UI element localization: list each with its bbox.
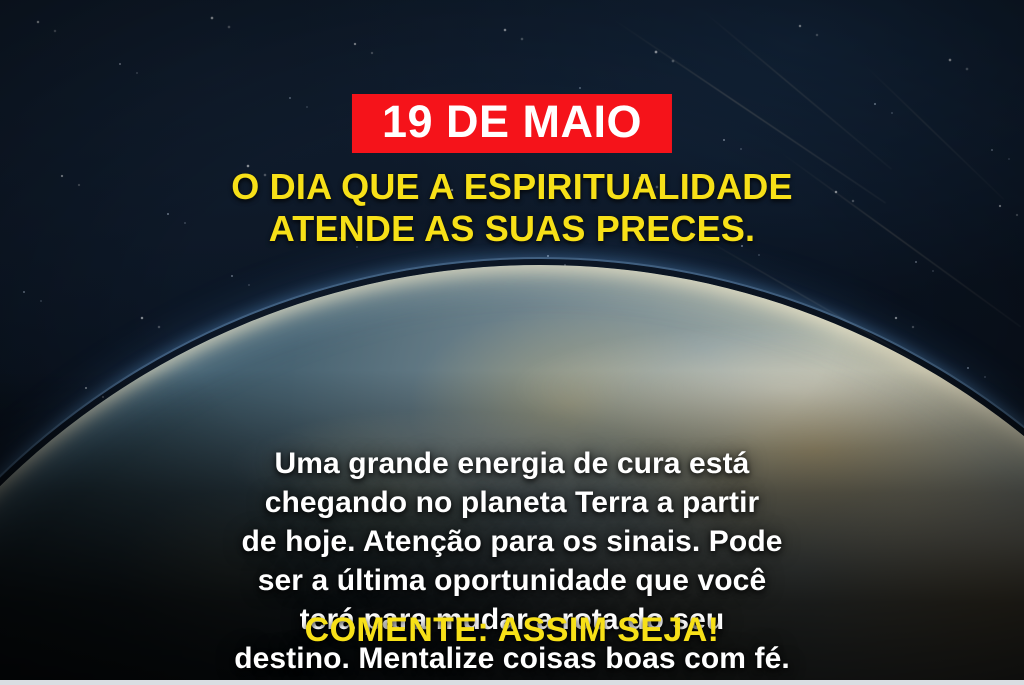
date-banner: 19 DE MAIO [352, 94, 672, 153]
headline: O DIA QUE A ESPIRITUALIDADE ATENDE AS SU… [0, 166, 1024, 251]
headline-line-1: O DIA QUE A ESPIRITUALIDADE [231, 166, 792, 207]
date-banner-label: 19 DE MAIO [382, 99, 642, 144]
promotional-poster: 19 DE MAIO O DIA QUE A ESPIRITUALIDADE A… [0, 0, 1024, 685]
bottom-strip [0, 680, 1024, 685]
headline-line-2: ATENDE AS SUAS PRECES. [28, 208, 996, 250]
call-to-action-text: COMENTE: ASSIM SEJA! [0, 611, 1024, 650]
body-line: chegando no planeta Terra a partir [52, 483, 972, 522]
poster-content: 19 DE MAIO O DIA QUE A ESPIRITUALIDADE A… [0, 0, 1024, 685]
body-line: ser a última oportunidade que você [52, 561, 972, 600]
body-line: de hoje. Atenção para os sinais. Pode [52, 522, 972, 561]
body-line: Uma grande energia de cura está [52, 444, 972, 483]
